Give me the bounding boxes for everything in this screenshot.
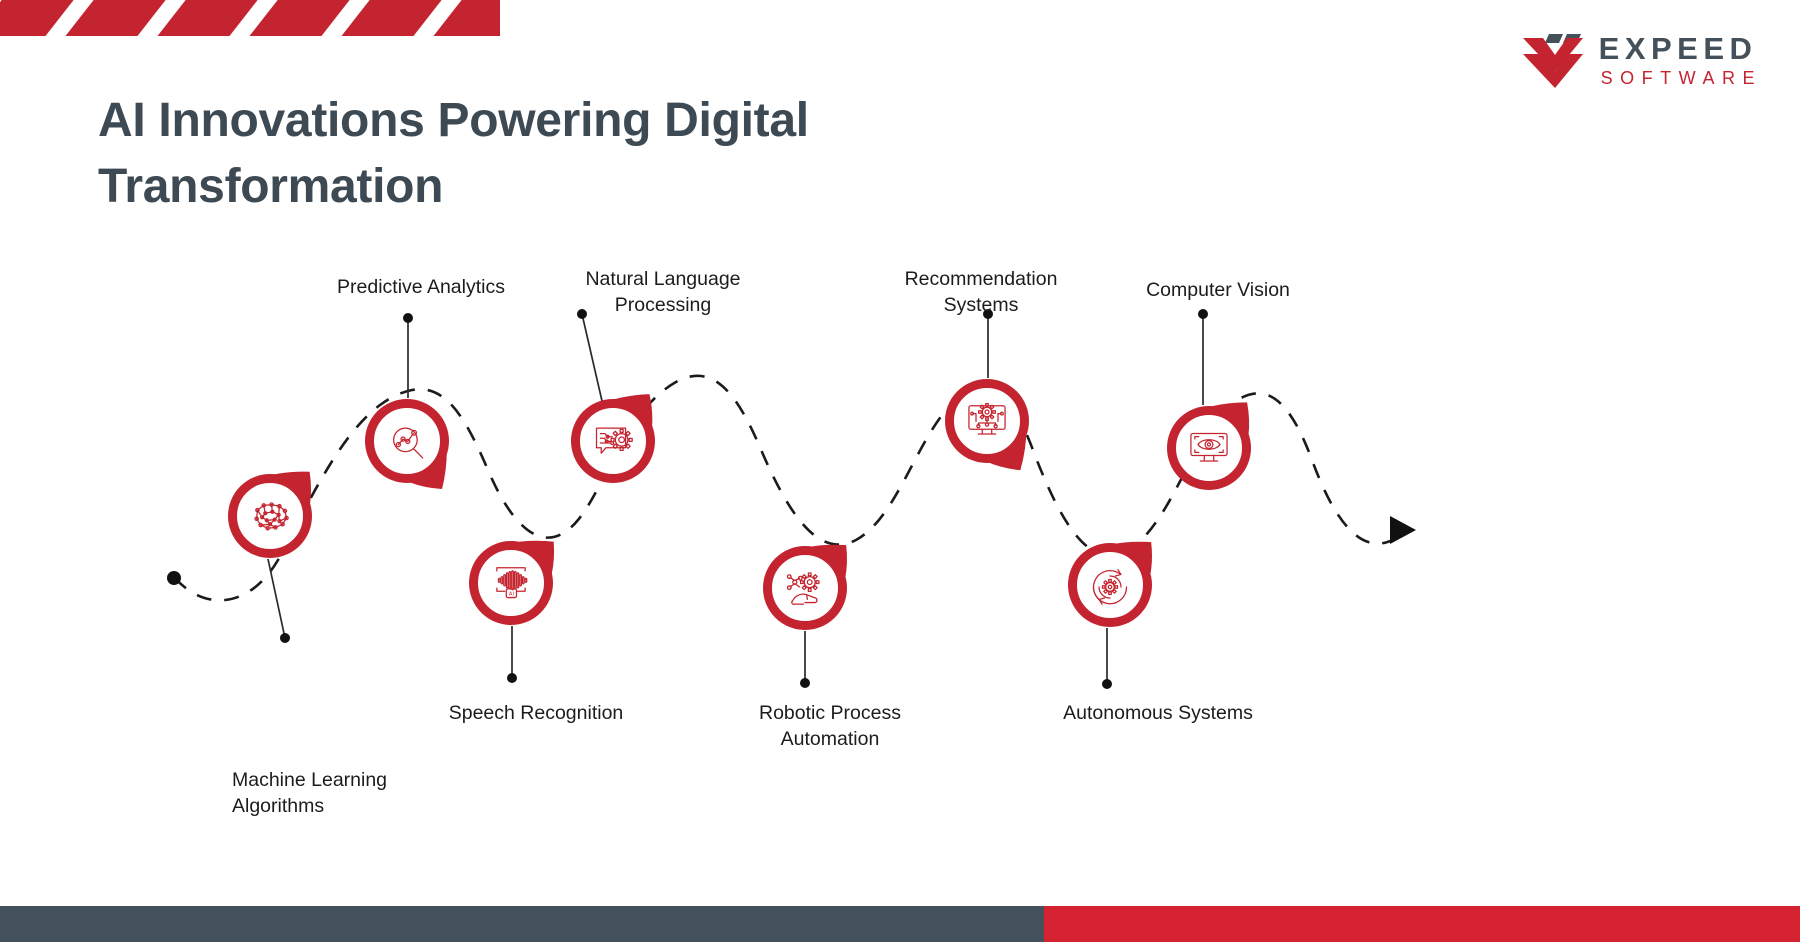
pin-machine-learning-algorithms[interactable]	[233, 471, 313, 553]
node-label-autonomous-systems: Autonomous Systems	[1063, 700, 1253, 726]
node-label-robotic-process-automation: Robotic Process Automation	[759, 700, 901, 752]
leader-line-machine-learning-algorithms	[268, 559, 285, 638]
leader-dot-machine-learning-algorithms	[280, 633, 290, 643]
leader-dot-robotic-process-automation	[800, 678, 810, 688]
leader-dot-predictive-analytics	[403, 313, 413, 323]
footer-bar-red-segment	[1044, 906, 1800, 942]
pin-computer-vision[interactable]	[1172, 402, 1253, 486]
chat-gear-nlp-icon	[591, 421, 635, 465]
leader-line-natural-language-processing	[582, 314, 602, 401]
monitor-gear-network-icon	[965, 401, 1009, 445]
neural-network-brain-icon	[248, 496, 292, 540]
node-label-speech-recognition: Speech Recognition	[449, 700, 624, 726]
pin-recommendation-systems[interactable]	[950, 384, 1035, 472]
node-label-natural-language-processing: Natural Language Processing	[585, 266, 740, 318]
pin-markers: AI	[233, 384, 1253, 626]
pin-predictive-analytics[interactable]	[370, 404, 455, 490]
pin-robotic-process-automation[interactable]	[768, 545, 848, 626]
monitor-eye-vision-icon	[1187, 428, 1231, 472]
robot-hand-gear-icon	[783, 568, 827, 612]
path-start-dot	[167, 571, 181, 585]
journey-diagram: AI	[0, 0, 1800, 942]
footer-bar	[0, 906, 1800, 942]
path-end-arrowhead	[1390, 516, 1416, 544]
svg-text:AI: AI	[509, 591, 515, 597]
audio-waveform-ai-icon: AI	[489, 563, 533, 607]
leader-dot-computer-vision	[1198, 309, 1208, 319]
node-label-predictive-analytics: Predictive Analytics	[337, 274, 505, 300]
node-label-machine-learning-algorithms: Machine Learning Algorithms	[232, 767, 387, 819]
node-label-recommendation-systems: Recommendation Systems	[905, 266, 1058, 318]
leader-lines	[268, 309, 1208, 689]
pin-autonomous-systems[interactable]	[1073, 542, 1153, 623]
pin-natural-language-processing[interactable]	[576, 394, 658, 479]
autonomous-target-gear-icon	[1088, 565, 1132, 609]
pin-speech-recognition[interactable]: AI	[474, 539, 555, 621]
footer-bar-dark-segment	[0, 906, 1044, 942]
leader-dot-autonomous-systems	[1102, 679, 1112, 689]
node-label-computer-vision: Computer Vision	[1146, 277, 1290, 303]
magnifier-analytics-icon	[385, 421, 429, 465]
leader-dot-speech-recognition	[507, 673, 517, 683]
